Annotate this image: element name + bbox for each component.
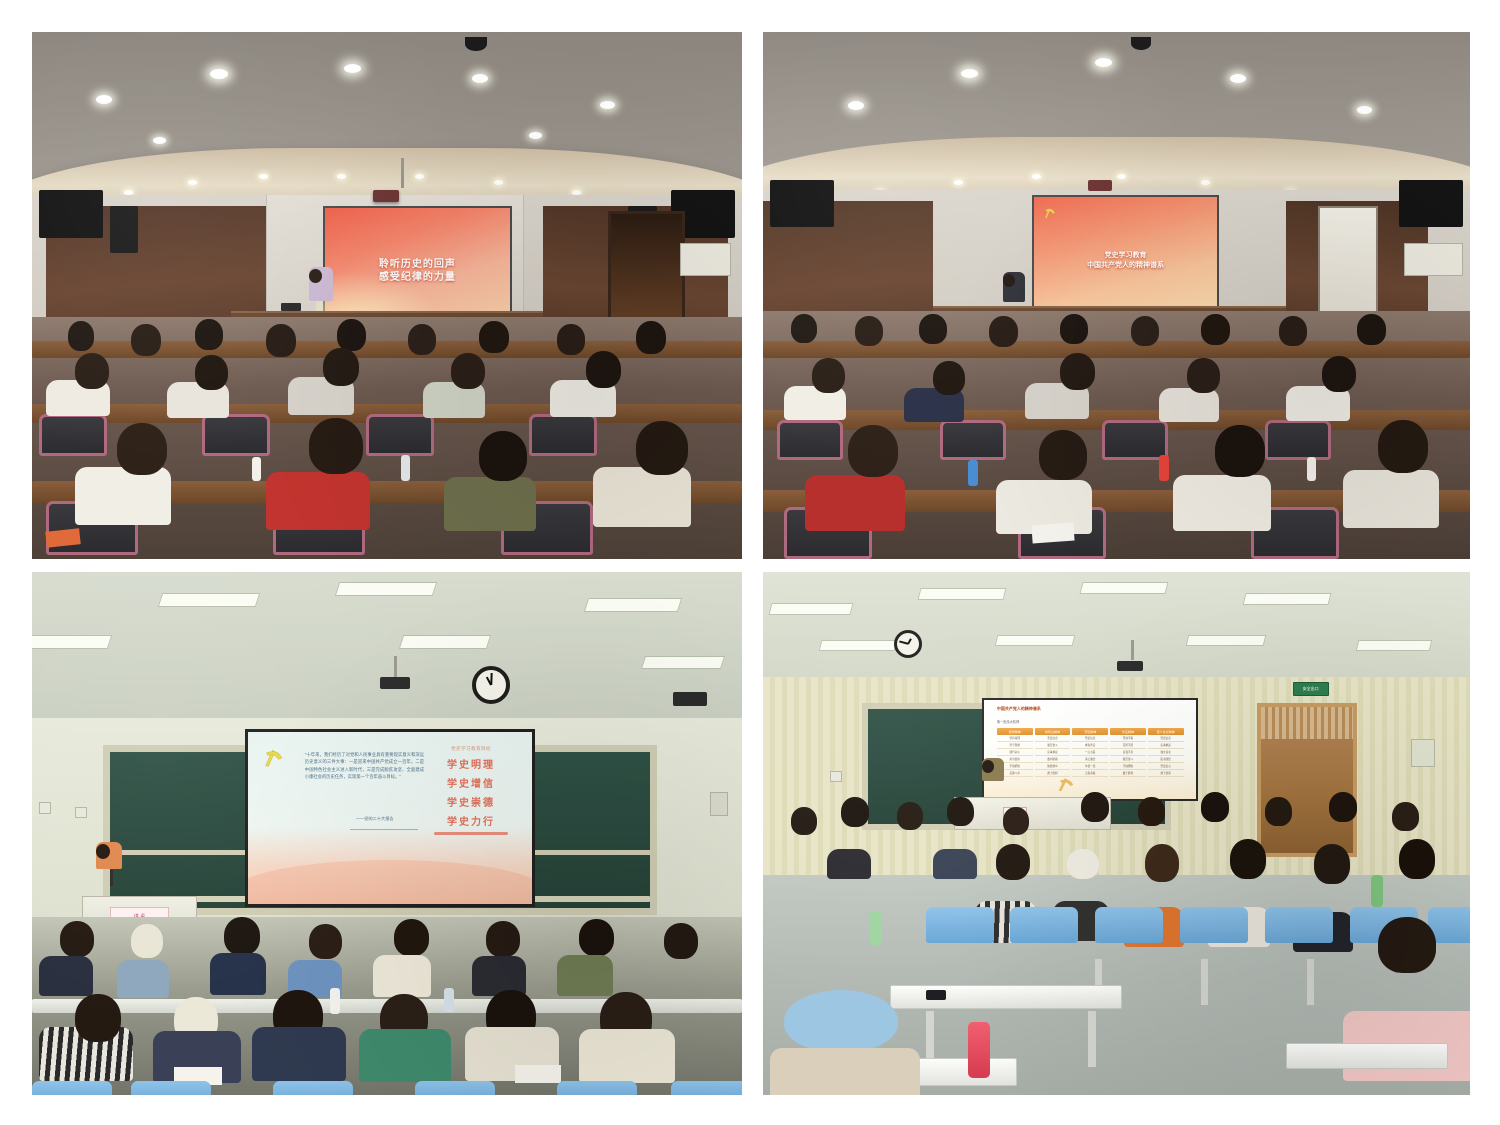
auditorium-seat (940, 420, 1006, 460)
projector (373, 190, 399, 202)
ceiling-speaker-dome (1131, 37, 1151, 50)
auditorium-seat (366, 414, 434, 456)
door-transom (1261, 707, 1353, 739)
slide-goal-item: 学史明理 (424, 756, 518, 771)
slide-table-cell: 敢于胜利 (1110, 770, 1146, 777)
student-head (195, 319, 223, 350)
ceiling-light-panel (1356, 640, 1433, 651)
clock-minute-hand (490, 673, 492, 685)
slide-accent-bar (434, 832, 507, 835)
wall-monitor-left (770, 180, 834, 227)
classroom-scene-2: 中国共产党人的精神谱系 第一批伟大精神 建党精神 坚持真理 坚守理想 践行初心 … (763, 572, 1470, 1095)
ceiling-light (344, 64, 361, 73)
photo-collage: 聆听历史的回声 感受纪律的力量 (0, 0, 1500, 1125)
slide-quote: "十年来，我们经历了对党和人民事业具有重要现实意义和深远历史意义的三件大事：一是… (305, 751, 424, 781)
student-head (195, 355, 228, 390)
projector (673, 692, 707, 706)
slide-table-cell: 坚韧不拔 (1110, 735, 1146, 742)
hammer-sickle-icon (1043, 206, 1059, 220)
slide-goal-heading: 党史学习教育目标 (424, 746, 518, 752)
ceiling-light-panel (335, 582, 438, 596)
slide-table-cell: 坚定信念 (1072, 735, 1108, 742)
slide-table-cell: 实事求是 (1148, 742, 1184, 749)
student-head (394, 919, 429, 956)
slide-table-cell: 勇于创新 (1148, 770, 1184, 777)
ceiling-light (1357, 106, 1372, 114)
student-head (1314, 844, 1350, 884)
slide-table: 建党精神 坚持真理 坚守理想 践行初心 担当使命 不怕牺牲 英勇斗争 井冈山精神… (997, 728, 1184, 777)
student-body (210, 953, 266, 995)
student-body (1173, 475, 1271, 531)
classroom-seat (1265, 907, 1333, 943)
ceiling-light (210, 69, 228, 79)
slide-table-header: 井冈山精神 (1035, 728, 1071, 735)
ceiling-light-panel (399, 635, 492, 649)
student-body (827, 849, 871, 879)
audience-area (32, 317, 742, 559)
slide-table-cell: 坚持真理 (997, 735, 1033, 742)
cove-light (188, 180, 197, 185)
student-head (1131, 316, 1159, 346)
student-head (1003, 807, 1029, 835)
student-body (373, 955, 431, 997)
projection-screen-4: 中国共产党人的精神谱系 第一批伟大精神 建党精神 坚持真理 坚守理想 践行初心 … (982, 698, 1198, 801)
student-head (337, 319, 366, 351)
cove-light (572, 190, 581, 195)
student-head (1357, 314, 1386, 345)
ceiling-light-panel (1080, 582, 1169, 594)
projector (1088, 180, 1112, 191)
ceiling-light-panel (640, 656, 724, 669)
student-head (323, 348, 359, 386)
auditorium-seat (39, 414, 107, 456)
auditorium-seat (777, 420, 843, 460)
water-bottle (968, 460, 978, 486)
student-body-red-hoodie (805, 475, 905, 531)
student-head (841, 797, 869, 827)
slide-table-header: 苏区精神 (1072, 728, 1108, 735)
photo-top-left[interactable]: 聆听历史的回声 感受纪律的力量 (32, 32, 742, 559)
slide-table-cell: 求真务实 (1072, 742, 1108, 749)
student-head (266, 324, 296, 357)
slide-table-cell: 自强不息 (1110, 749, 1146, 756)
ceiling-light-panel (158, 593, 261, 607)
student-body-white-hoodie (75, 467, 171, 525)
student-head (989, 316, 1018, 347)
student-head (791, 807, 817, 835)
student-head (1399, 839, 1435, 879)
auditorium-seat (1102, 420, 1168, 460)
student-head (75, 994, 121, 1042)
classroom-seat (557, 1081, 637, 1095)
student-head (579, 919, 614, 956)
student-head (897, 802, 923, 830)
student-head (1145, 844, 1179, 882)
wall-monitor-left (39, 190, 103, 237)
student-body (1343, 470, 1439, 528)
classroom-seat (1180, 907, 1248, 943)
desk-leg (1088, 1011, 1096, 1067)
projector (380, 677, 410, 689)
slide-title: 中国共产党人的精神谱系 (997, 706, 1041, 712)
photo-bottom-right[interactable]: 中国共产党人的精神谱系 第一批伟大精神 建党精神 坚持真理 坚守理想 践行初心 … (763, 572, 1470, 1095)
student-head (60, 921, 94, 957)
student-body (252, 1027, 346, 1081)
teacher-head (96, 844, 110, 859)
slide-citation: ——党的二十大报告 (356, 816, 394, 822)
student-head (1329, 792, 1357, 822)
student-head (1138, 797, 1165, 826)
ceiling-light (1230, 74, 1246, 83)
student-head (947, 797, 974, 826)
student-head (1081, 792, 1109, 822)
student-body (39, 956, 93, 996)
student-head (1060, 353, 1095, 390)
student-head (664, 923, 698, 959)
slide-table-cell: 争创一流 (1072, 763, 1108, 770)
ceiling-light (848, 101, 864, 110)
wall-speaker (710, 792, 728, 816)
auditorium-scene-2: 党史学习教育 中国共产党人的精神谱系 (763, 32, 1470, 559)
student-head (1378, 420, 1428, 473)
ceiling-light (600, 101, 615, 109)
slide-table-cell: 民主团结 (1148, 756, 1184, 763)
slide-table-cell: 艰苦奋斗 (1035, 742, 1071, 749)
classroom-seat (1010, 907, 1078, 943)
ceiling-light-panel (818, 640, 897, 651)
water-bottle (401, 455, 410, 481)
water-bottle-green (1371, 875, 1383, 907)
cove-light (494, 180, 503, 185)
clock-minute-hand (899, 640, 908, 644)
presenter (309, 269, 333, 317)
ceiling-light-panel (1186, 635, 1267, 646)
water-bottle-green (869, 912, 882, 946)
student-body-olive (444, 477, 536, 531)
student-body-red-hoodie (266, 472, 370, 530)
classroom-seat (273, 1081, 353, 1095)
student-head (636, 321, 666, 354)
student-body (579, 1029, 675, 1083)
slide-table-cell: 不怕牺牲 (1110, 763, 1146, 770)
slide-underline (350, 829, 418, 830)
laptop (281, 303, 301, 311)
student-head (451, 353, 485, 389)
student-body-green (359, 1029, 451, 1082)
slide-table-column: 井冈山精神 坚定信念 艰苦奋斗 实事求是 敢闯新路 依靠群众 勇于胜利 (1035, 728, 1071, 777)
audience-area (32, 917, 742, 1095)
student-head (1230, 839, 1266, 879)
student-head (1392, 802, 1419, 831)
slide-table-cell: 敢闯新路 (1035, 756, 1071, 763)
slide-table-cell: 坚定信念 (1035, 735, 1071, 742)
student-head (117, 423, 167, 475)
ceiling-light-panel (917, 588, 1006, 600)
teacher (96, 844, 122, 884)
slide-table-cell: 践行初心 (997, 749, 1033, 756)
slide-goal-item: 学史崇德 (424, 794, 518, 809)
classroom-seat (926, 907, 994, 943)
slide-table-cell: 艰苦奋斗 (1110, 756, 1146, 763)
photo-bottom-left[interactable]: "十年来，我们经历了对党和人民事业具有重要现实意义和深远历史意义的三件大事：一是… (32, 572, 742, 1095)
projector-mount (401, 158, 404, 188)
student-head (224, 917, 260, 955)
lecturer (982, 760, 1004, 794)
student-body-cream (593, 467, 691, 527)
student-head (1187, 358, 1220, 393)
slide-table-header: 遵义会议精神 (1148, 728, 1184, 735)
slide-table-cell: 一心为民 (1072, 749, 1108, 756)
projector (1117, 661, 1143, 671)
student-head (1201, 792, 1229, 822)
slide-table-cell: 实事求是 (1035, 749, 1071, 756)
student-head (1378, 917, 1436, 973)
student-body (1159, 388, 1219, 422)
auditorium-seat (529, 414, 597, 456)
student-head (848, 425, 898, 477)
water-bottle-red (968, 1022, 990, 1078)
student-head (791, 314, 817, 343)
student-body-foreground (770, 1048, 920, 1095)
cove-light (954, 180, 963, 185)
wall-switch (39, 802, 51, 814)
student-head (1215, 425, 1265, 477)
projector-mount (1131, 640, 1134, 660)
book (45, 528, 80, 547)
phone[interactable] (926, 990, 946, 1000)
slide-line-2: 中国共产党人的精神谱系 (1087, 261, 1164, 271)
ceiling-light-panel (1242, 593, 1331, 605)
student-head (408, 324, 436, 355)
student-head (309, 418, 363, 474)
slide-subtitle: 第一批伟大精神 (997, 719, 1019, 724)
student-head (996, 844, 1030, 880)
cove-light (1201, 180, 1210, 185)
ceiling-light-panel (32, 635, 112, 649)
classroom-seat (671, 1081, 742, 1095)
auditorium-seat (202, 414, 270, 456)
student-head (1039, 430, 1087, 480)
slide-table-cell: 百折不挠 (1110, 742, 1146, 749)
student-head (1279, 316, 1307, 346)
student-head (1322, 356, 1356, 392)
student-head (1265, 797, 1292, 826)
student-body (933, 849, 977, 879)
slide-table-cell: 依靠群众 (1035, 763, 1071, 770)
microphone (110, 870, 113, 886)
classroom-seat (1095, 907, 1163, 943)
notebook (515, 1065, 561, 1083)
student-head (933, 361, 965, 395)
audience-area (763, 311, 1470, 559)
water-bottle (1307, 457, 1316, 481)
slide-wave-graphic (245, 860, 535, 905)
classroom-seat (32, 1081, 112, 1095)
slide-goal-item: 学史增信 (424, 775, 518, 790)
slide-line-1: 聆听历史的回声 (379, 258, 456, 272)
ceiling-light-panel (769, 603, 854, 615)
auditorium-scene-1: 聆听历史的回声 感受纪律的力量 (32, 32, 742, 559)
classroom-scene-1: "十年来，我们经历了对党和人民事业具有重要现实意义和深远历史意义的三件大事：一是… (32, 572, 742, 1095)
desk-leg (1201, 959, 1208, 1005)
student-desk (1286, 1043, 1448, 1069)
bucket-hat (784, 990, 898, 1052)
student-head (919, 314, 947, 344)
slide-table-cell: 清正廉洁 (1072, 756, 1108, 763)
student-head (586, 351, 621, 388)
student-head (1201, 314, 1230, 345)
student-head (68, 321, 94, 351)
wall-panel-box (1411, 739, 1435, 767)
slide-table-cell: 坚守理想 (997, 742, 1033, 749)
hammer-sickle-icon (262, 747, 288, 769)
student-head-with-cap (131, 924, 163, 958)
wall-clock (894, 630, 922, 658)
student-head (557, 324, 585, 355)
slide-line-1: 党史学习教育 (1087, 251, 1164, 261)
student-head (812, 358, 845, 393)
wall-monitor-right (1399, 180, 1463, 227)
wall-speaker-left (110, 206, 138, 253)
wall-notice-board (1404, 243, 1463, 277)
wall-notice-board (680, 243, 732, 277)
student-head (479, 431, 527, 481)
notebook (1031, 523, 1074, 544)
projection-screen-3: "十年来，我们经历了对党和人民事业具有重要现实意义和深远历史意义的三件大事：一是… (245, 729, 535, 908)
party-emblem-icon (1056, 775, 1078, 793)
presenter-head (309, 269, 322, 283)
exit-sign: 安全出口 (1293, 682, 1329, 696)
slide-table-column: 苏区精神 坚定信念 求真务实 一心为民 清正廉洁 争创一流 无私奉献 (1072, 728, 1108, 777)
student-head (1060, 314, 1088, 344)
water-bottle (252, 457, 261, 481)
student-head (131, 324, 161, 356)
auditorium-seat (1265, 420, 1331, 460)
slide-table-header: 建党精神 (997, 728, 1033, 735)
slide-table-header: 长征精神 (1110, 728, 1146, 735)
student-head (309, 924, 342, 959)
classroom-seat (131, 1081, 211, 1095)
student-head (75, 353, 109, 389)
ceiling-light-panel (995, 635, 1076, 646)
slide-table-column: 长征精神 坚韧不拔 百折不挠 自强不息 艰苦奋斗 不怕牺牲 敢于胜利 (1110, 728, 1146, 777)
classroom-seat (415, 1081, 495, 1095)
student-head (486, 921, 520, 957)
slide-table-cell: 独立自主 (1148, 749, 1184, 756)
water-bottle (444, 988, 454, 1012)
water-bottle (330, 988, 340, 1014)
slide-table-cell: 坚定信念 (1148, 735, 1184, 742)
student-body (557, 955, 613, 996)
wall-outlet (75, 807, 87, 818)
wall-outlet (830, 771, 842, 782)
student-head-with-cap (1067, 849, 1099, 879)
slide-goal-item: 学史力行 (424, 813, 518, 828)
slide-text: 党史学习教育 中国共产党人的精神谱系 (1087, 251, 1164, 271)
slide-table-column: 遵义会议精神 坚定信念 实事求是 独立自主 民主团结 坚定信心 勇于创新 (1148, 728, 1184, 777)
slide-table-cell: 坚定信心 (1148, 763, 1184, 770)
ceiling-light (961, 69, 978, 78)
ceiling-light-panel (584, 598, 683, 612)
water-bottle (1159, 455, 1169, 481)
student-head (479, 321, 509, 353)
student-head (636, 421, 688, 475)
student-body (117, 960, 169, 998)
slide-goal-block: 党史学习教育目标 学史明理 学史增信 学史崇德 学史力行 (424, 746, 518, 835)
classroom-door (1257, 703, 1357, 857)
photo-top-right[interactable]: 党史学习教育 中国共产党人的精神谱系 (763, 32, 1470, 559)
student-head (855, 316, 883, 346)
desk-leg (1307, 959, 1314, 1005)
